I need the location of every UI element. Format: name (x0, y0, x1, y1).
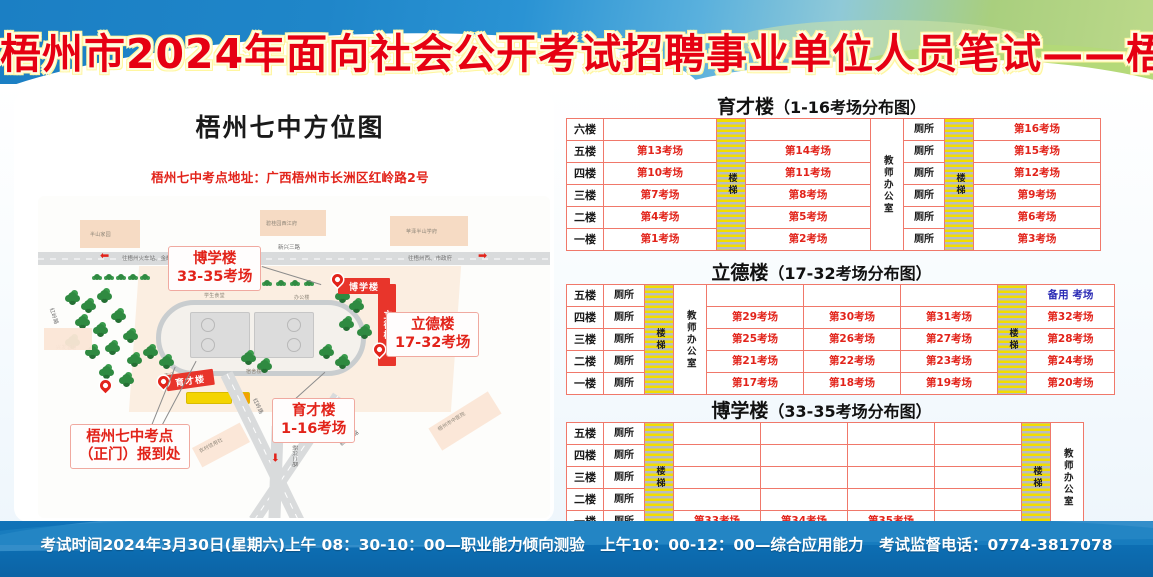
room-cell (935, 423, 1022, 445)
room-cell (804, 285, 901, 307)
stair-label: 楼梯 (1032, 466, 1041, 490)
footer-exam-info: 考试时间2024年3月30日(星期六)上午 08：30-10：00—职业能力倾向… (0, 533, 1153, 555)
lide-callout-line2: 17-32考场 (395, 335, 470, 353)
table-row: 五楼 第13考场 第14考场 厕所 第15考场 (567, 141, 1101, 163)
lide-table-title: 立德楼（17-32考场分布图） (566, 258, 1077, 285)
boxue-callout-line1: 博学楼 (177, 251, 252, 269)
basketball-court-2 (254, 312, 314, 358)
stair-label: 楼梯 (655, 466, 664, 490)
room-cell: 第15考场 (974, 141, 1101, 163)
stair-label: 楼梯 (655, 328, 664, 352)
room-cell: 第2考场 (746, 229, 871, 251)
basketball-court-1 (190, 312, 250, 358)
floor-label: 四楼 (567, 307, 604, 329)
label-canteen: 学生食堂 (204, 292, 225, 299)
table-row: 三楼 第7考场 第8考场 厕所 第9考场 (567, 185, 1101, 207)
lide-title-main: 立德楼 (711, 262, 768, 284)
label-pingze: 苹泽半山学府 (406, 228, 437, 235)
boxue-table: 五楼 厕所 楼梯 楼梯 教师办公室 四楼 厕所 三楼 厕所 二楼 (566, 422, 1084, 533)
room-cell (935, 467, 1022, 489)
floor-label: 二楼 (567, 351, 604, 373)
teacher-office: 教师办公室 (674, 285, 707, 395)
room-cell: 第32考场 (1027, 307, 1115, 329)
room-cell (674, 467, 761, 489)
table-row: 五楼 厕所 楼梯 楼梯 教师办公室 (567, 423, 1084, 445)
restroom-cell: 厕所 (604, 467, 645, 489)
gate-callout-line1: 梧州七中考点 (79, 429, 181, 447)
label-banshan: 半山家园 (90, 231, 111, 238)
map-title: 梧州七中方位图 (60, 108, 520, 144)
yucai-table: 六楼 楼梯 教师办公室 厕所 楼梯 第16考场 五楼 第13考场 第14考场 厕… (566, 118, 1101, 251)
restroom-cell: 厕所 (604, 423, 645, 445)
table-row: 三楼 厕所 (567, 467, 1084, 489)
room-cell (761, 445, 848, 467)
floor-label: 一楼 (567, 229, 604, 251)
room-cell (674, 423, 761, 445)
roadlabel-xinxing-san: 新兴三路 (278, 243, 300, 251)
room-cell: 第22考场 (804, 351, 901, 373)
room-cell: 第10考场 (604, 163, 717, 185)
room-cell: 第14考场 (746, 141, 871, 163)
block-xingfa (44, 328, 92, 350)
room-cell: 第31考场 (901, 307, 998, 329)
floor-label: 二楼 (567, 207, 604, 229)
bus-stop-icon (186, 392, 232, 404)
room-cell: 第27考场 (901, 329, 998, 351)
room-cell: 第24考场 (1027, 351, 1115, 373)
pin-main-gate (98, 378, 114, 394)
map-address: 梧州七中考点地址：广西梧州市长洲区红岭路2号 (60, 167, 520, 186)
room-cell (707, 285, 804, 307)
boxue-callout-line2: 33-35考场 (177, 269, 252, 287)
floor-label: 五楼 (567, 423, 604, 445)
yucai-callout-line2: 1-16考场 (281, 421, 346, 439)
teacher-office: 教师办公室 (1051, 423, 1084, 533)
room-cell (848, 489, 935, 511)
table-row: 四楼 第10考场 第11考场 厕所 第12考场 (567, 163, 1101, 185)
room-cell (935, 489, 1022, 511)
table-row: 一楼 第1考场 第2考场 厕所 第3考场 (567, 229, 1101, 251)
yucai-callout-line1: 育才楼 (281, 403, 346, 421)
teacher-office: 教师办公室 (871, 119, 904, 251)
restroom-cell: 厕所 (604, 285, 645, 307)
block-nongxin (192, 423, 250, 468)
stair-column-left: 楼梯 (717, 119, 746, 251)
label-office: 办公楼 (294, 294, 310, 301)
room-cell: 第7考场 (604, 185, 717, 207)
restroom-cell: 厕所 (904, 119, 945, 141)
room-cell: 第21考场 (707, 351, 804, 373)
table-row: 五楼 厕所 楼梯 教师办公室 楼梯 备用 考场 (567, 285, 1115, 307)
boxue-title-sub: （33-35考场分布图） (768, 402, 931, 421)
restroom-cell: 厕所 (904, 141, 945, 163)
room-cell (848, 445, 935, 467)
floor-label: 三楼 (567, 467, 604, 489)
table-row: 六楼 楼梯 教师办公室 厕所 楼梯 第16考场 (567, 119, 1101, 141)
room-cell (674, 489, 761, 511)
floor-label: 二楼 (567, 489, 604, 511)
table-row: 二楼 厕所 (567, 489, 1084, 511)
room-cell (901, 285, 998, 307)
yucai-callout[interactable]: 育才楼 1-16考场 (272, 398, 355, 443)
floor-label: 五楼 (567, 285, 604, 307)
room-cell (674, 445, 761, 467)
room-cell (761, 423, 848, 445)
poster-root: 梧州市2024年面向社会公开考试招聘事业单位人员笔试——梧州七中考点 梧州七中方… (0, 0, 1153, 577)
room-cell: 第5考场 (746, 207, 871, 229)
floor-label: 六楼 (567, 119, 604, 141)
arrow-east-icon: ➡ (478, 251, 487, 262)
stair-column-left: 楼梯 (645, 285, 674, 395)
room-cell (848, 423, 935, 445)
stair-column-left: 楼梯 (645, 423, 674, 533)
room-cell (604, 119, 717, 141)
floor-label: 三楼 (567, 329, 604, 351)
room-cell (848, 467, 935, 489)
room-cell: 第23考场 (901, 351, 998, 373)
room-cell (761, 489, 848, 511)
room-cell: 第8考场 (746, 185, 871, 207)
room-cell (746, 119, 871, 141)
boxue-title-main: 博学楼 (711, 400, 768, 422)
restroom-cell: 厕所 (904, 229, 945, 251)
restroom-cell: 厕所 (904, 163, 945, 185)
restroom-cell: 厕所 (604, 307, 645, 329)
room-cell: 第4考场 (604, 207, 717, 229)
room-cell: 第1考场 (604, 229, 717, 251)
room-cell: 第13考场 (604, 141, 717, 163)
room-cell: 第25考场 (707, 329, 804, 351)
room-cell: 第17考场 (707, 373, 804, 395)
room-cell: 第12考场 (974, 163, 1101, 185)
restroom-cell: 厕所 (604, 445, 645, 467)
restroom-cell: 厕所 (904, 207, 945, 229)
stair-label: 楼梯 (727, 173, 736, 197)
floor-label: 四楼 (567, 163, 604, 185)
lide-table: 五楼 厕所 楼梯 教师办公室 楼梯 备用 考场 四楼 厕所 第29考场 第30考… (566, 284, 1115, 395)
restroom-cell: 厕所 (904, 185, 945, 207)
floor-label: 五楼 (567, 141, 604, 163)
yucai-table-title: 育才楼（1-16考场分布图） (566, 92, 1077, 119)
yucai-title-main: 育才楼 (717, 96, 774, 118)
room-cell: 第3考场 (974, 229, 1101, 251)
stair-label: 楼梯 (955, 173, 964, 197)
stair-column-right: 楼梯 (1022, 423, 1051, 533)
arrow-south-icon: ➡ (269, 453, 280, 462)
stair-column-right: 楼梯 (998, 285, 1027, 395)
room-cell: 第20考场 (1027, 373, 1115, 395)
restroom-cell: 厕所 (604, 373, 645, 395)
room-cell (935, 445, 1022, 467)
boxue-table-title: 博学楼（33-35考场分布图） (566, 396, 1077, 423)
room-cell: 第11考场 (746, 163, 871, 185)
arrow-west-icon: ⬅ (100, 251, 109, 262)
room-cell: 第16考场 (974, 119, 1101, 141)
floor-label: 四楼 (567, 445, 604, 467)
page-title: 梧州市2024年面向社会公开考试招聘事业单位人员笔试——梧州七中考点 (0, 20, 1153, 80)
room-cell: 第30考场 (804, 307, 901, 329)
roadlabel-hongling-left: 红岭路 (48, 307, 61, 325)
lide-callout[interactable]: 立德楼 17-32考场 (386, 312, 479, 357)
lide-title-sub: （17-32考场分布图） (768, 264, 931, 283)
floor-label: 一楼 (567, 373, 604, 395)
floor-label: 三楼 (567, 185, 604, 207)
label-dorm: 宿舍楼 (246, 368, 262, 375)
stair-column-right: 楼梯 (945, 119, 974, 251)
room-cell: 第6考场 (974, 207, 1101, 229)
lide-callout-line1: 立德楼 (395, 317, 470, 335)
room-cell: 第29考场 (707, 307, 804, 329)
gate-callout-line2: （正门）报到处 (79, 447, 181, 465)
table-row: 四楼 厕所 (567, 445, 1084, 467)
restroom-cell: 厕所 (604, 489, 645, 511)
table-row: 二楼 第4考场 第5考场 厕所 第6考场 (567, 207, 1101, 229)
roadlabel-south: 新兴二路 (291, 445, 299, 467)
backup-room-cell: 备用 考场 (1027, 285, 1115, 307)
restroom-cell: 厕所 (604, 329, 645, 351)
restroom-cell: 厕所 (604, 351, 645, 373)
label-bigui: 碧桂园西江府 (266, 220, 297, 227)
room-cell: 第9考场 (974, 185, 1101, 207)
room-cell (761, 467, 848, 489)
stair-label: 楼梯 (1008, 328, 1017, 352)
room-cell: 第28考场 (1027, 329, 1115, 351)
gate-callout[interactable]: 梧州七中考点 （正门）报到处 (70, 424, 190, 469)
room-cell: 第26考场 (804, 329, 901, 351)
yucai-title-sub: （1-16考场分布图） (774, 98, 926, 117)
boxue-callout[interactable]: 博学楼 33-35考场 (168, 246, 261, 291)
roadlabel-direction-east: 往梧州西、市政府 (408, 254, 452, 262)
road-xinxing-san (38, 252, 550, 265)
room-cell: 第19考场 (901, 373, 998, 395)
room-cell: 第18考场 (804, 373, 901, 395)
